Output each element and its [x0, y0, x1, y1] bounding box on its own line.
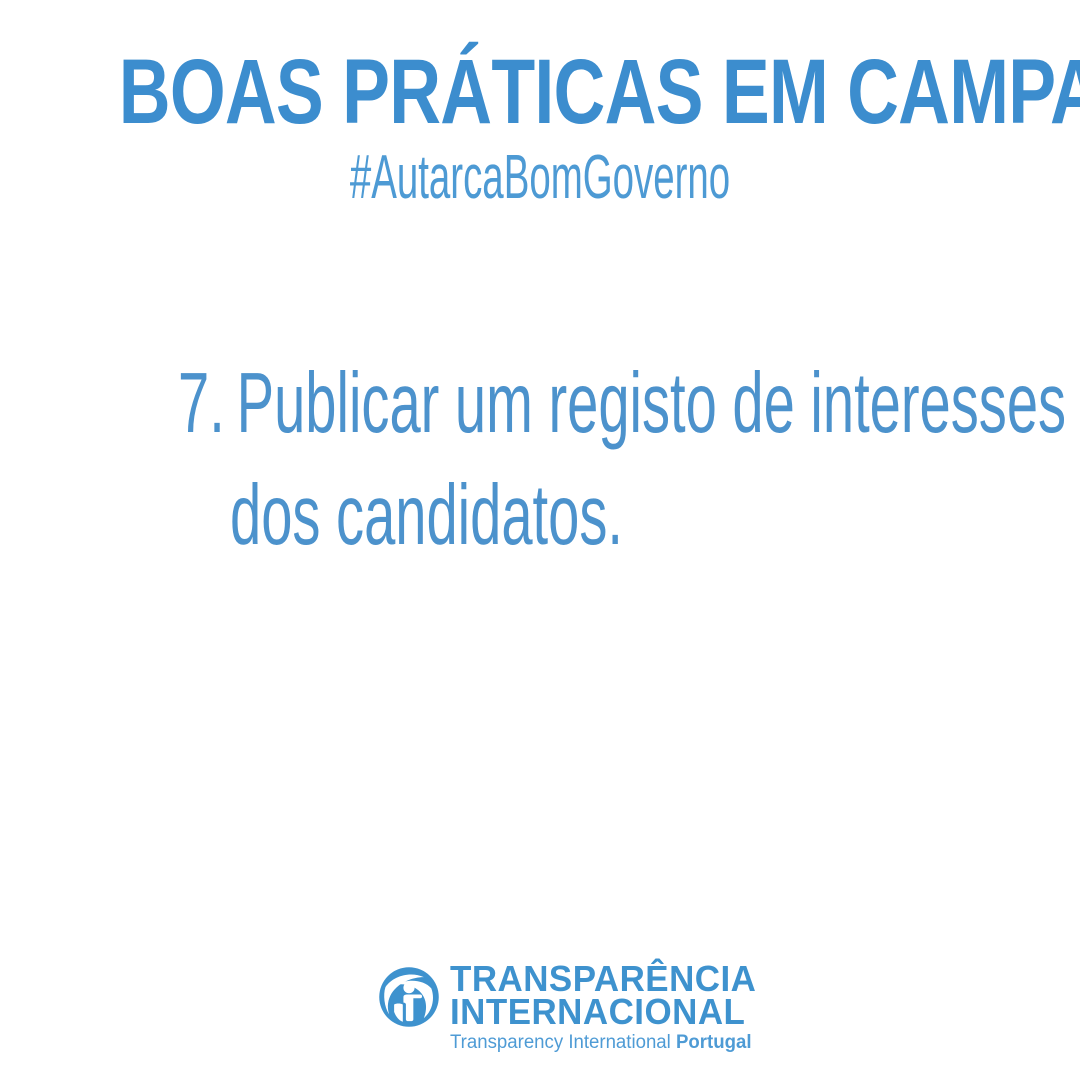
logo-tagline-regular: Transparency International — [450, 1032, 676, 1053]
organization-logo: TRANSPARÊNCIA INTERNACIONAL Transparency… — [378, 962, 708, 1057]
logo-tagline: Transparency International Portugal — [450, 1032, 760, 1054]
statement-text-line-1: Publicar um registo de interesses — [237, 356, 1066, 451]
transparency-international-globe-person-icon — [378, 966, 440, 1028]
statement-line-1: 7.Publicar um registo de interesses — [178, 348, 706, 460]
logo-word-internacional: INTERNACIONAL — [450, 995, 756, 1028]
recommendation-statement: 7.Publicar um registo de interesses dos … — [178, 348, 978, 572]
statement-number: 7. — [178, 356, 225, 451]
campaign-graphic-card: BOAS PRÁTICAS EM CAMPANHA #AutarcaBomGov… — [0, 0, 1080, 1080]
logo-tagline-country: Portugal — [676, 1032, 752, 1053]
header-block: BOAS PRÁTICAS EM CAMPANHA #AutarcaBomGov… — [0, 44, 1080, 210]
campaign-hashtag: #AutarcaBomGoverno — [205, 146, 875, 210]
page-title: BOAS PRÁTICAS EM CAMPANHA — [119, 44, 961, 140]
statement-text-line-2: dos candidatos. — [230, 460, 724, 572]
logo-wordmark: TRANSPARÊNCIA INTERNACIONAL Transparency… — [450, 962, 766, 1054]
